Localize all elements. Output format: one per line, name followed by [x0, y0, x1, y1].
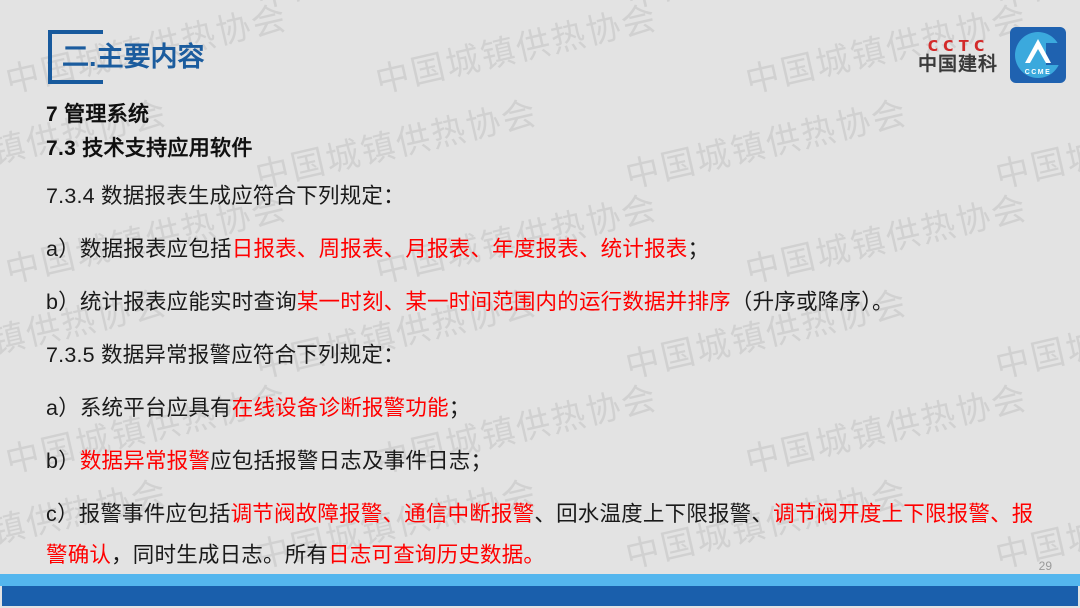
text-run: b）统计报表应能实时查询: [46, 290, 297, 314]
text-run: 7.3.5 数据异常报警应符合下列规定：: [46, 343, 405, 367]
content-heading-2: 7.3 技术支持应用软件: [46, 130, 1080, 164]
text-run: 某一时刻、某一时间范围内的运行数据并排序: [297, 290, 731, 314]
paragraph-p-734-b: b）统计报表应能实时查询某一时刻、某一时间范围内的运行数据并排序（升序或降序）。: [46, 282, 1036, 323]
ccme-emblem-icon: CCME: [1010, 27, 1066, 83]
paragraph-p-734: 7.3.4 数据报表生成应符合下列规定：: [46, 176, 1036, 217]
paragraph-p-735-b: b）数据异常报警应包括报警日志及事件日志；: [46, 441, 1036, 482]
text-run: a）数据报表应包括: [46, 237, 232, 261]
content-heading-1: 7 管理系统: [46, 96, 1080, 130]
paragraph-p-735: 7.3.5 数据异常报警应符合下列规定：: [46, 335, 1036, 376]
page-number: 29: [1039, 559, 1052, 573]
emblem-label: CCME: [1010, 69, 1066, 76]
page-title: 二.主要内容: [62, 40, 205, 74]
text-run: 数据异常报警: [80, 449, 210, 473]
text-run: c）报警事件应包括: [46, 502, 231, 526]
slide-canvas: 中国城镇供热协会中国城镇供热协会中国城镇供热协会中国城镇供热协会中国城镇供热协会…: [0, 0, 1080, 608]
text-run: 日报表、周报表、月报表、年度报表、统计报表: [232, 237, 688, 261]
slide-header: 二.主要内容 CCTC 中国建科 CCME: [0, 0, 1080, 96]
text-run: 应包括报警日志及事件日志；: [210, 449, 492, 473]
logo-area: CCTC 中国建科 CCME: [918, 27, 1066, 83]
text-run: 7.3.4 数据报表生成应符合下列规定：: [46, 184, 405, 208]
paragraph-list: 7.3.4 数据报表生成应符合下列规定：a）数据报表应包括日报表、周报表、月报表…: [0, 176, 1080, 576]
text-run: 在线设备诊断报警功能: [232, 396, 449, 420]
cctc-logo-chinese: 中国建科: [918, 55, 998, 74]
cctc-logo-latin: CCTC: [927, 39, 989, 54]
text-run: ；: [449, 396, 471, 420]
footer-bar-light: [0, 574, 1080, 586]
paragraph-p-734-a: a）数据报表应包括日报表、周报表、月报表、年度报表、统计报表；: [46, 229, 1036, 270]
cctc-logo: CCTC 中国建科: [918, 37, 998, 74]
text-run: （升序或降序）。: [731, 290, 894, 314]
text-run: ；: [687, 237, 709, 261]
paragraph-p-735-a: a）系统平台应具有在线设备诊断报警功能；: [46, 388, 1036, 429]
footer-bar-dark: [2, 586, 1078, 606]
text-run: 、回水温度上下限报警、: [534, 502, 773, 526]
emblem-peak-inner: [1030, 49, 1046, 63]
text-run: 日志可查询历史数据。: [328, 543, 545, 567]
text-run: ，同时生成日志。所有: [111, 543, 328, 567]
text-run: a）系统平台应具有: [46, 396, 232, 420]
slide-content: 7 管理系统 7.3 技术支持应用软件 7.3.4 数据报表生成应符合下列规定：…: [0, 96, 1080, 576]
paragraph-p-735-c: c）报警事件应包括调节阀故障报警、通信中断报警、回水温度上下限报警、调节阀开度上…: [46, 494, 1036, 576]
text-run: b）: [46, 449, 80, 473]
text-run: 调节阀故障报警、通信中断报警: [231, 502, 535, 526]
